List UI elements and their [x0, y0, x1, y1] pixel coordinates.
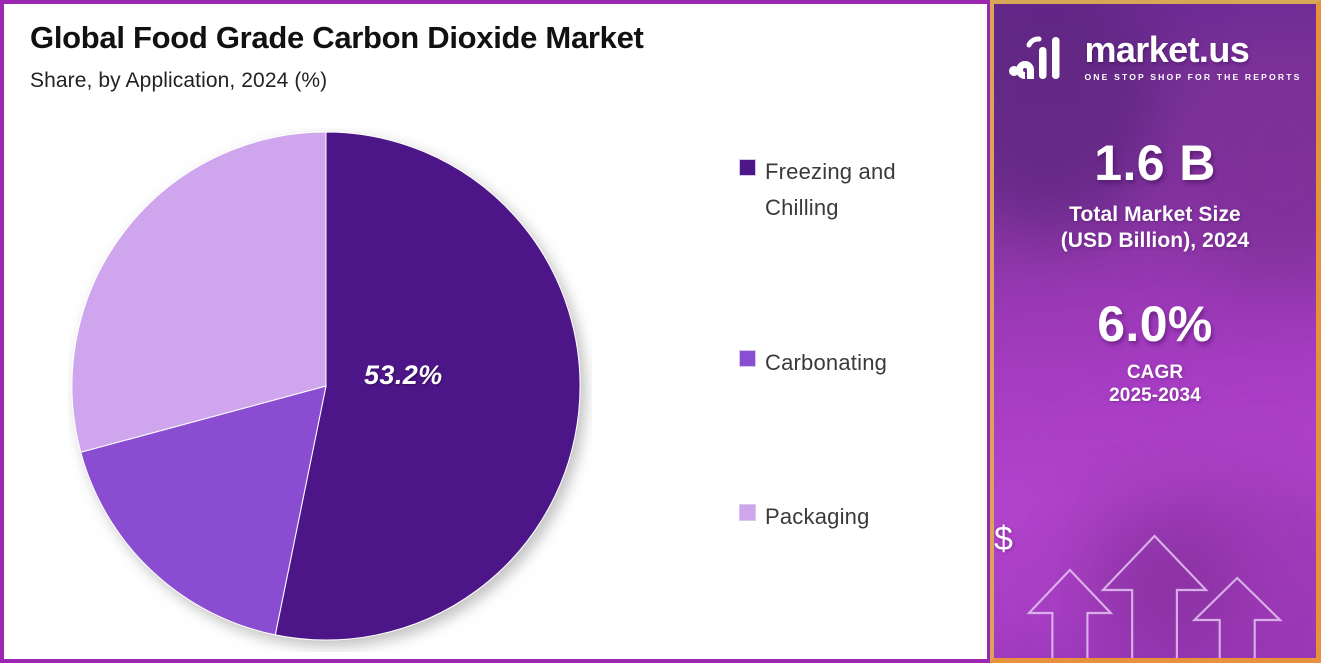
- brand-logo-text: market.us ONE STOP SHOP FOR THE REPORTS: [1084, 32, 1301, 82]
- pie-chart: 53.2%: [68, 128, 592, 652]
- chart-header: Global Food Grade Carbon Dioxide Market …: [30, 20, 950, 93]
- legend-swatch-icon: [739, 504, 756, 521]
- legend-item-carbonating[interactable]: Carbonating: [739, 345, 974, 381]
- pie-chart-svg: [68, 128, 592, 652]
- market-us-logo-icon: [1008, 35, 1074, 79]
- brand-logo[interactable]: market.us ONE STOP SHOP FOR THE REPORTS: [994, 32, 1316, 82]
- chart-legend: Freezing and Chilling Carbonating Packag…: [739, 154, 974, 535]
- legend-item-freezing-and-chilling[interactable]: Freezing and Chilling: [739, 154, 974, 227]
- infographic-root: Global Food Grade Carbon Dioxide Market …: [0, 0, 1321, 663]
- stat-market-size-caption: Total Market Size (USD Billion), 2024: [994, 202, 1316, 253]
- stat-cagr-value: 6.0%: [994, 299, 1316, 349]
- chart-panel: Global Food Grade Carbon Dioxide Market …: [0, 0, 990, 663]
- brand-tagline: ONE STOP SHOP FOR THE REPORTS: [1084, 72, 1301, 82]
- legend-item-label: Packaging: [765, 499, 870, 535]
- chart-subtitle: Share, by Application, 2024 (%): [30, 69, 950, 93]
- stats-panel-content: market.us ONE STOP SHOP FOR THE REPORTS …: [994, 32, 1316, 663]
- page-title: Global Food Grade Carbon Dioxide Market: [30, 20, 950, 56]
- pie-slices: [72, 132, 580, 640]
- stat-market-size-value: 1.6 B: [994, 138, 1316, 188]
- legend-swatch-icon: [739, 159, 756, 176]
- legend-item-label: Carbonating: [765, 345, 887, 381]
- brand-name: market.us: [1084, 32, 1301, 68]
- stat-caption-line1: Total Market Size: [994, 202, 1316, 228]
- stat-caption-line2: (USD Billion), 2024: [994, 228, 1316, 254]
- stat-cagr-caption: CAGR 2025-2034: [994, 361, 1316, 407]
- legend-item-label: Freezing and Chilling: [765, 154, 974, 227]
- stat-caption-line1: CAGR: [994, 361, 1316, 384]
- legend-item-packaging[interactable]: Packaging: [739, 499, 974, 535]
- legend-swatch-icon: [739, 350, 756, 367]
- stat-caption-line2: 2025-2034: [994, 384, 1316, 407]
- stats-panel: $ market.us: [990, 0, 1321, 663]
